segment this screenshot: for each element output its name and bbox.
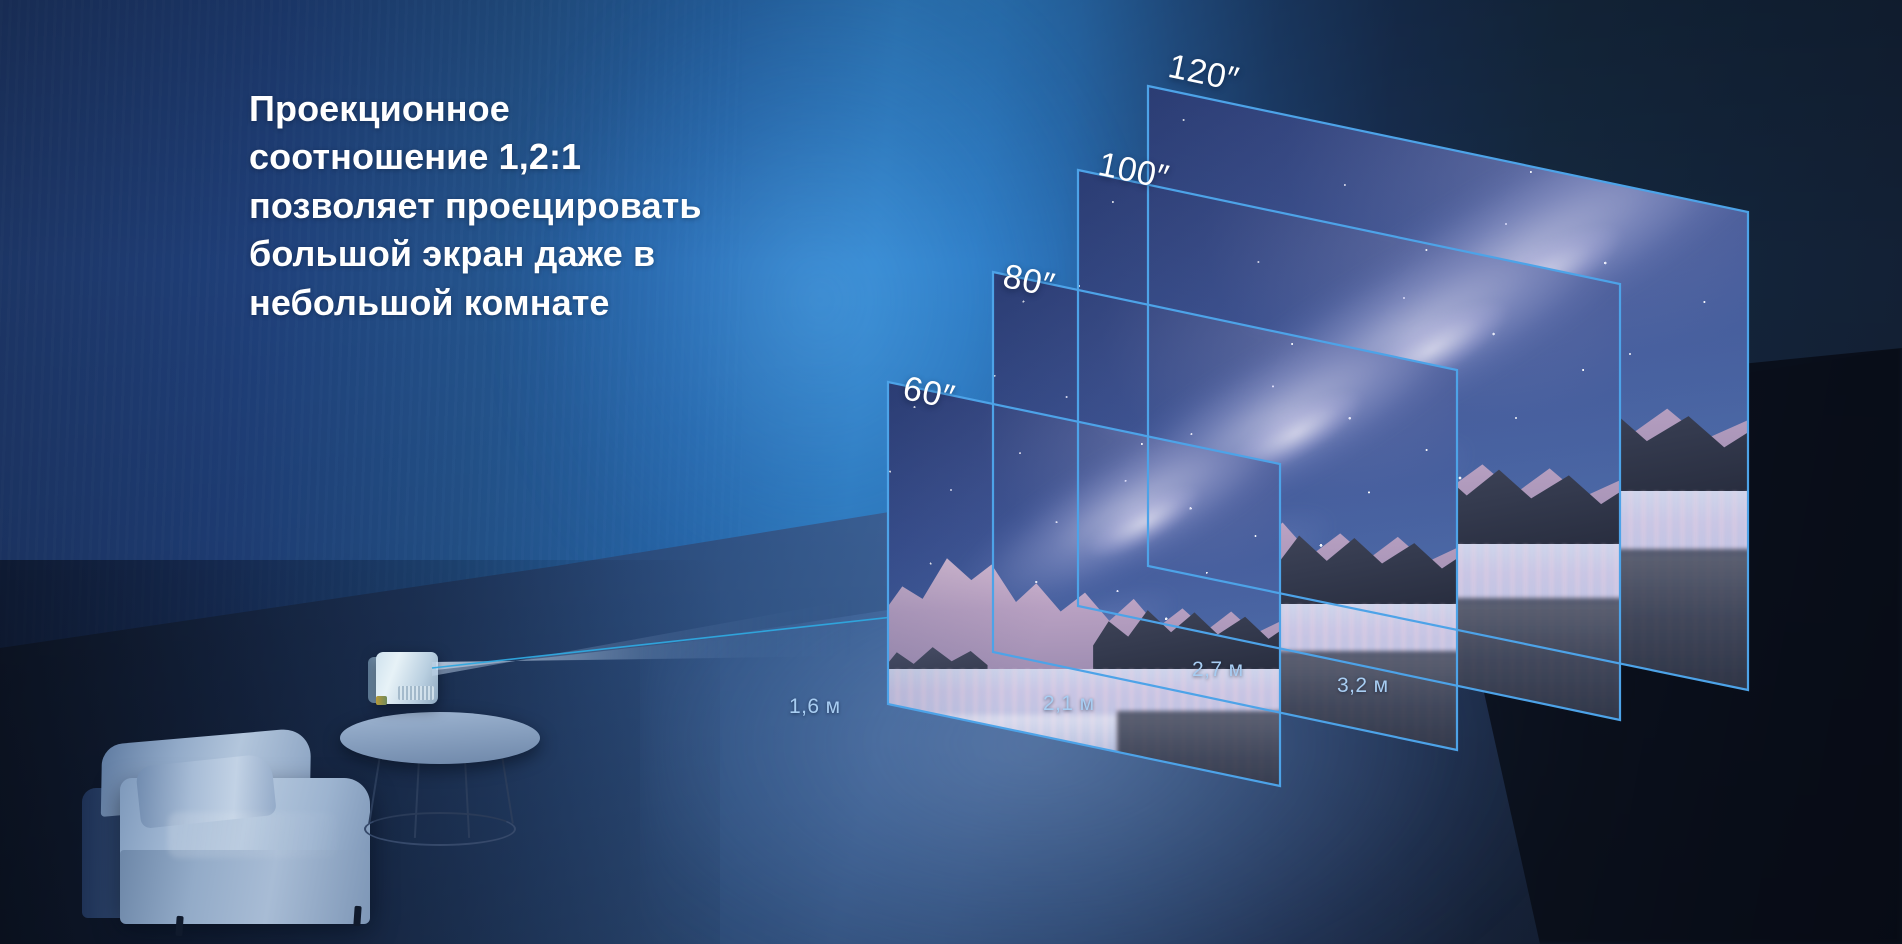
screen-distance-label-100: 2,7 м xyxy=(1192,658,1243,682)
armchair-front-panel xyxy=(120,850,370,924)
projection-ratio-infographic: Проекционное соотношение 1,2:1 позволяет… xyxy=(0,0,1902,944)
armchair-highlight xyxy=(168,812,338,858)
projector xyxy=(368,652,438,710)
table-top xyxy=(340,712,540,764)
projector-vents-icon xyxy=(398,686,434,700)
table-leg xyxy=(500,750,514,823)
side-table xyxy=(340,694,540,860)
table-leg xyxy=(368,750,382,823)
distance-measure-line xyxy=(432,612,902,682)
armchair-leg xyxy=(175,916,183,936)
screen-distance-label-80: 2,1 м xyxy=(1043,692,1094,716)
screen-distance-label-120: 3,2 м xyxy=(1337,674,1388,698)
projector-lens-icon xyxy=(376,696,387,705)
table-base-ring xyxy=(364,812,516,846)
page-title: Проекционное соотношение 1,2:1 позволяет… xyxy=(249,85,809,327)
screen-distance-label-60: 1,6 м xyxy=(789,695,840,719)
armchair-leg xyxy=(353,906,361,926)
